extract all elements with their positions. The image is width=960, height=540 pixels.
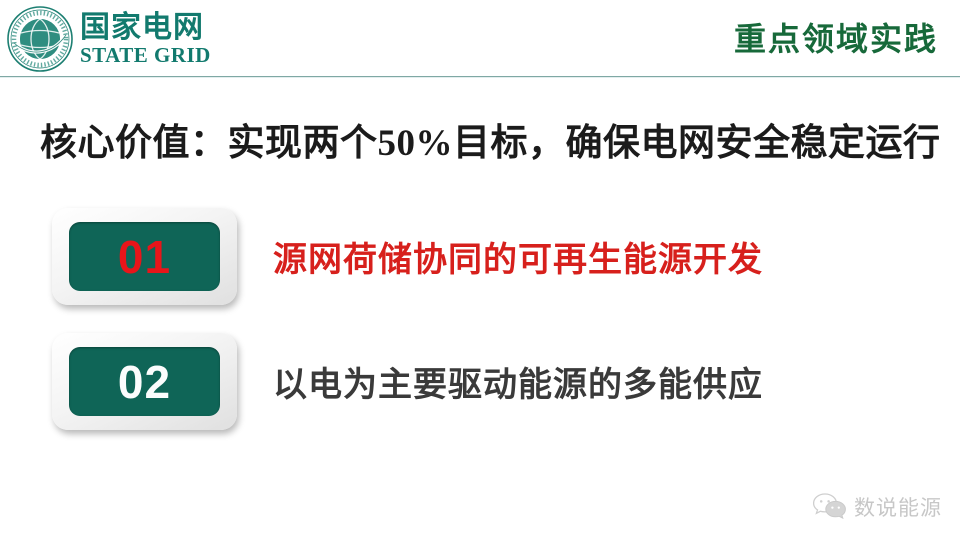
core-value-heading: 核心价值：实现两个50%目标，确保电网安全稳定运行 [40,112,940,166]
watermark-label: 数说能源 [854,492,942,522]
list-item[interactable]: 02 以电为主要驱动能源的多能供应 [52,333,763,430]
item-number-label: 01 [118,234,171,280]
list-item[interactable]: 01 源网荷储协同的可再生能源开发 [52,208,763,305]
brand-text-block: 国家电网 STATE GRID [80,13,211,66]
header-divider [0,76,960,78]
slide-header: 国家电网 STATE GRID 重点领域实践 [0,0,960,80]
item-text-01: 源网荷储协同的可再生能源开发 [273,232,763,281]
item-number-badge-02: 02 [52,333,237,430]
page-title: 重点领域实践 [734,14,938,60]
brand-name-en: STATE GRID [80,45,211,66]
state-grid-brand: 国家电网 STATE GRID [6,4,211,74]
state-grid-globe-emblem [6,5,74,73]
brand-name-cn: 国家电网 [80,13,211,43]
item-text-02: 以电为主要驱动能源的多能供应 [273,357,763,406]
item-number-label: 02 [118,359,171,405]
wechat-watermark: 数说能源 [813,492,942,522]
item-number-badge-inner: 02 [69,347,220,416]
item-number-badge-01: 01 [52,208,237,305]
item-number-badge-inner: 01 [69,222,220,291]
slide-canvas: 国家电网 STATE GRID 重点领域实践 核心价值：实现两个50%目标，确保… [0,0,960,540]
wechat-icon [813,492,847,522]
